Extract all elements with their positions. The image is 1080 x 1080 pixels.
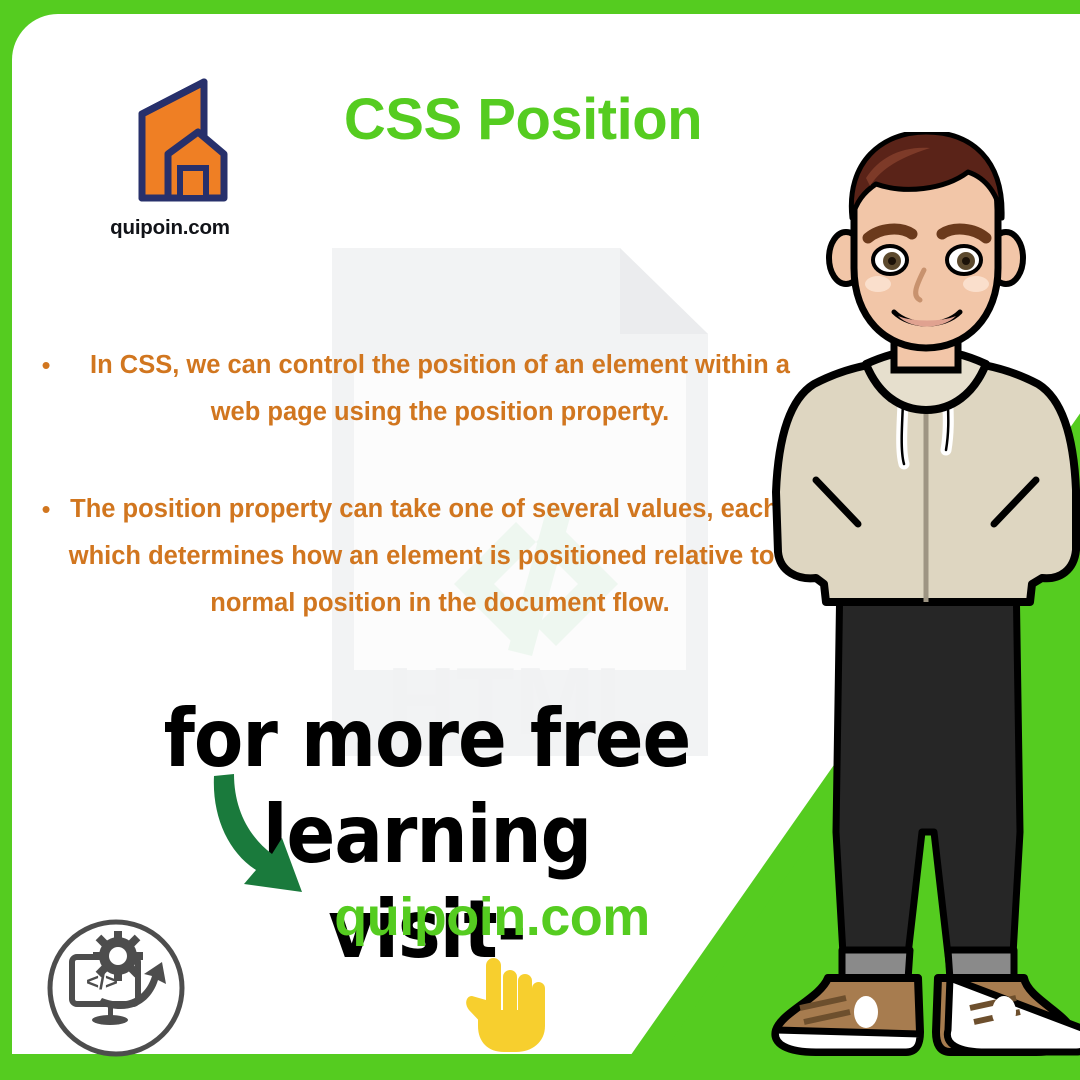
- bullet-marker-icon: •: [26, 342, 66, 436]
- avatar-hoodie: [776, 350, 1076, 602]
- cartoon-person-illustration: [754, 132, 1080, 1080]
- bullet-item: • In CSS, we can control the position of…: [26, 342, 826, 436]
- avatar-shoes: [775, 978, 1080, 1052]
- bullet-marker-icon: •: [26, 486, 66, 627]
- callout-line-1: for more free learning: [12, 690, 842, 883]
- brand-logo: quipoin.com: [70, 76, 270, 240]
- bullet-list: • In CSS, we can control the position of…: [26, 342, 826, 677]
- brand-logo-text: quipoin.com: [70, 216, 270, 240]
- bullet-text: In CSS, we can control the position of a…: [66, 342, 826, 436]
- poster-card: HTML quipoin.com CSS Position • In CSS, …: [12, 14, 1080, 1080]
- curved-down-arrow-icon: [190, 770, 340, 896]
- building-logo-icon: [112, 76, 228, 204]
- poster-frame: HTML quipoin.com CSS Position • In CSS, …: [0, 0, 1080, 1080]
- avatar-pants: [836, 572, 1020, 980]
- bullet-text: The position property can take one of se…: [66, 486, 826, 627]
- page-title: CSS Position: [298, 86, 748, 153]
- site-link[interactable]: quipoin.com: [172, 886, 812, 948]
- code-gear-monitor-badge-icon: </>: [40, 912, 192, 1064]
- pointing-up-hand-icon: [462, 952, 554, 1056]
- bullet-item: • The position property can take one of …: [26, 486, 826, 627]
